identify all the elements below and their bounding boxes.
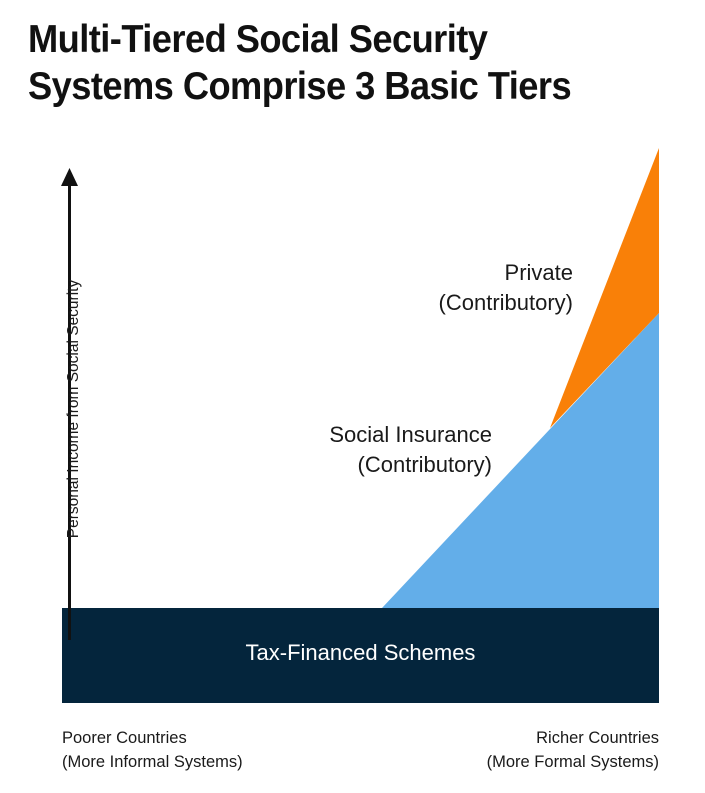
x-axis-label-left: Poorer Countries (More Informal Systems) [62,726,352,774]
y-axis-arrow-icon [61,168,78,186]
label-tier-private: Private (Contributory) [320,258,573,318]
chart-figure: Multi-Tiered Social Security Systems Com… [0,0,705,793]
chart-plot-area [0,0,705,793]
label-tier-tax-financed: Tax-Financed Schemes [62,640,659,666]
x-axis-label-right: Richer Countries (More Formal Systems) [369,726,659,774]
y-axis-label: Personal Income from Social Security [65,199,83,619]
label-tier-social-insurance: Social Insurance (Contributory) [200,420,492,480]
